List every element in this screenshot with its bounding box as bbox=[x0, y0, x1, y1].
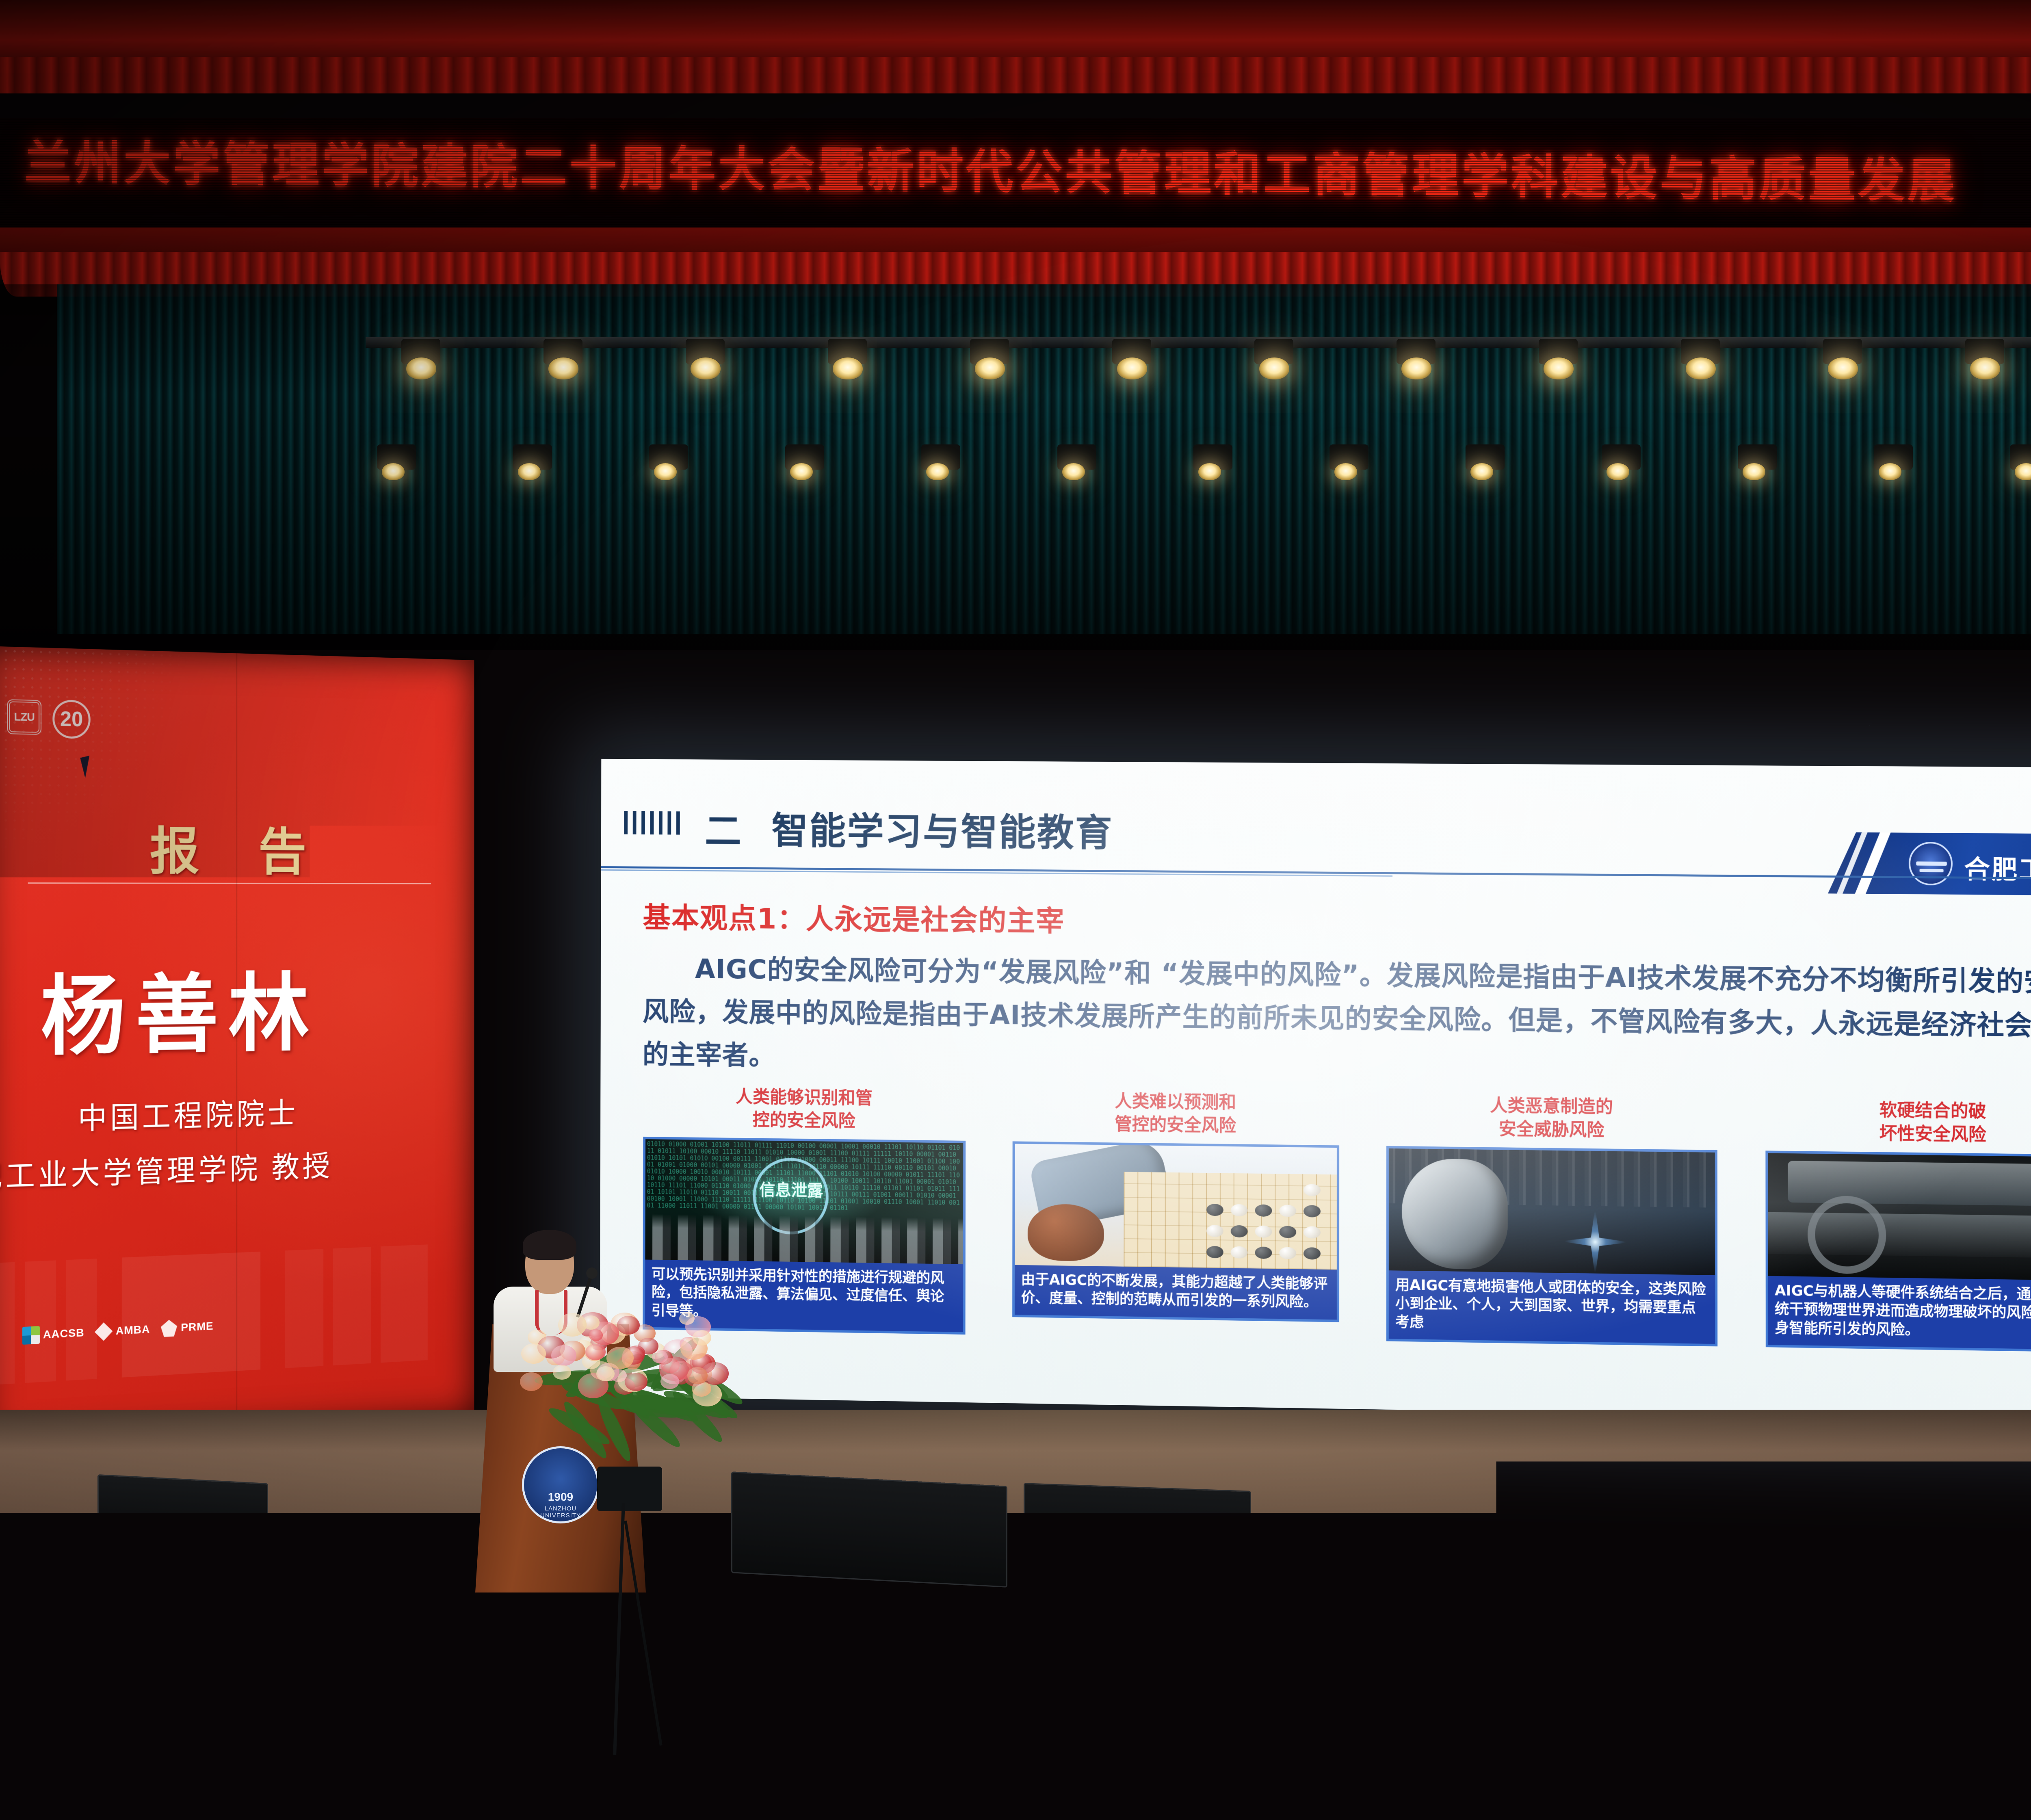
stage-light bbox=[654, 463, 677, 480]
amba-mark-icon bbox=[95, 1322, 113, 1341]
bouquet-flower bbox=[558, 1313, 587, 1337]
bouquet-flower bbox=[596, 1366, 615, 1381]
aacsb-label: AACSB bbox=[43, 1326, 84, 1341]
projection-screen: 二 智能学习与智能教育 合肥工业大学 基本观点1：人永远是社会的主宰 AIGC的… bbox=[600, 759, 2031, 1422]
risk-card: 软硬结合的破 坏性安全风险AIGC与机器人等硬件系统结合之后，通过硬件系统干预物… bbox=[1765, 1097, 2031, 1352]
bouquet-flower bbox=[553, 1365, 571, 1380]
stage-light bbox=[1117, 357, 1147, 379]
go-stone bbox=[1303, 1247, 1321, 1260]
windshield bbox=[1788, 1161, 2031, 1206]
bouquet-flower bbox=[521, 1343, 546, 1364]
stage-light bbox=[1743, 463, 1765, 480]
banner-kicker-label: 报 告 bbox=[150, 810, 329, 884]
bouquet-flower bbox=[585, 1344, 605, 1360]
prme-mark-icon bbox=[160, 1319, 178, 1338]
stage-light bbox=[1879, 463, 1901, 480]
stage-light bbox=[518, 463, 541, 480]
risk-card-box: 由于AIGC的不断发展，其能力超越了人类能够评价、度量、控制的范畴从而引发的一系… bbox=[1012, 1141, 1339, 1322]
stage-light bbox=[975, 357, 1005, 379]
stage-light bbox=[1259, 357, 1289, 379]
data-leak-magnifier-image: 01010 01000 01001 10100 11011 01111 1101… bbox=[645, 1139, 963, 1264]
stage-light bbox=[1198, 463, 1221, 480]
image-overlay-text: 信息泄露 bbox=[759, 1176, 823, 1201]
prme-mark-icon bbox=[340, 1657, 359, 1676]
risk-card: 人类难以预测和 管控的安全风险由于AIGC的不断发展，其能力超越了人类能够评价、… bbox=[1012, 1089, 1339, 1340]
robot-hand-go-board-image bbox=[1015, 1144, 1337, 1270]
red-valance-upper bbox=[0, 57, 2031, 93]
go-stone bbox=[1206, 1246, 1223, 1258]
banner-divider bbox=[28, 882, 431, 884]
go-stone bbox=[1303, 1226, 1321, 1239]
speaker-affiliation-line-2: 肥工业大学管理学院 教授 bbox=[0, 1142, 333, 1197]
go-stone bbox=[1279, 1247, 1296, 1259]
go-stone bbox=[1206, 1203, 1223, 1216]
stage-light bbox=[1544, 357, 1574, 379]
go-stone bbox=[1255, 1225, 1272, 1238]
speaker-name: 杨善林 bbox=[41, 945, 319, 1072]
prme-logo: PRME bbox=[160, 1317, 213, 1338]
aacsb-mark-icon bbox=[22, 1326, 40, 1345]
bouquet-flower bbox=[687, 1367, 708, 1384]
anniversary-seal-icon: 20 bbox=[52, 700, 90, 739]
stage-light bbox=[1970, 357, 2000, 379]
server-silhouettes bbox=[645, 1213, 963, 1264]
organization-logo-tab: 合肥工业大学 bbox=[1828, 832, 2031, 896]
presentation-slide: 二 智能学习与智能教育 合肥工业大学 基本观点1：人永远是社会的主宰 AIGC的… bbox=[600, 759, 2031, 1422]
stage-light bbox=[1828, 357, 1858, 379]
prme-label: PRME bbox=[181, 1319, 213, 1334]
stage-light bbox=[1686, 357, 1716, 379]
led-marquee-banner: 兰州大学管理学院建院二十周年大会暨新时代公共管理和工商管理学科建设与高质量发展 bbox=[0, 118, 2031, 240]
front-banner-logos-left: AACSB AMBA PRME bbox=[211, 1657, 393, 1676]
stage-light bbox=[1401, 357, 1431, 379]
hefei-university-seal-icon bbox=[1909, 842, 1953, 886]
header-bars-decoration-icon bbox=[624, 811, 680, 834]
speaker-hair bbox=[523, 1230, 576, 1260]
flower-arrangement bbox=[508, 1290, 735, 1412]
car-crash-interior-image bbox=[1768, 1153, 2031, 1280]
risk-card-caption: 人类能够识别和管 控的安全风险 bbox=[643, 1085, 966, 1134]
stage-light bbox=[1470, 463, 1493, 480]
bouquet-flower bbox=[660, 1374, 679, 1389]
risk-cards-row: 人类能够识别和管 控的安全风险01010 01000 01001 10100 1… bbox=[643, 1085, 2031, 1352]
front-banner-line-2: 暨新时代公共管理和工商管理学科建设与高质量发展论坛 bbox=[0, 1732, 2031, 1798]
organization-logo-name: 合肥工业大学 bbox=[1964, 849, 2031, 887]
video-camera bbox=[597, 1467, 662, 1511]
risk-card-caption: 软硬结合的破 坏性安全风险 bbox=[1765, 1097, 2031, 1148]
android-face bbox=[1402, 1158, 1508, 1270]
go-stone bbox=[1303, 1184, 1321, 1196]
bouquet-flower bbox=[625, 1373, 647, 1391]
stage-light bbox=[406, 357, 436, 379]
risk-card-box: 用AIGC有意地损害他人或团体的安全，这类风险小到企业、个人，大到国家、世界，均… bbox=[1386, 1146, 1717, 1346]
risk-card-text: 用AIGC有意地损害他人或团体的安全，这类风险小到企业、个人，大到国家、世界，均… bbox=[1389, 1270, 1715, 1344]
bouquet-flower bbox=[606, 1347, 633, 1369]
front-banner-line-1: 兰州大学管理学院建院二十周年大会 bbox=[0, 1672, 2031, 1735]
aacsb-label: AACSB bbox=[238, 1662, 269, 1671]
stage-light bbox=[2015, 463, 2031, 480]
risk-card-caption: 人类难以预测和 管控的安全风险 bbox=[1012, 1089, 1339, 1139]
prme-label: PRME bbox=[368, 1662, 393, 1671]
aacsb-logo: AACSB bbox=[22, 1324, 84, 1345]
risk-card-text: 由于AIGC的不断发展，其能力超越了人类能够评价、度量、控制的范畴从而引发的一系… bbox=[1015, 1265, 1337, 1319]
go-stone bbox=[1279, 1205, 1296, 1217]
stage-monitor-left bbox=[731, 1471, 1007, 1588]
amba-mark-icon bbox=[278, 1657, 297, 1676]
robot-face-explosion-image bbox=[1389, 1148, 1715, 1275]
stage-light bbox=[691, 357, 721, 379]
go-stone bbox=[1255, 1204, 1272, 1217]
slide-red-heading: 基本观点1：人永远是社会的主宰 bbox=[643, 895, 1065, 940]
auditorium-hall: 兰州大学管理学院建院二十周年大会暨新时代公共管理和工商管理学科建设与高质量发展 … bbox=[0, 0, 2031, 1820]
go-stone bbox=[1230, 1225, 1247, 1237]
stage-light bbox=[833, 357, 863, 379]
stage-light bbox=[790, 463, 813, 480]
amba-label: AMBA bbox=[305, 1662, 331, 1671]
energy-burst bbox=[1560, 1207, 1630, 1275]
stage-light bbox=[926, 463, 949, 480]
stage-light bbox=[548, 357, 578, 379]
stage-light bbox=[1607, 463, 1629, 480]
stage-monitor-right bbox=[1982, 1458, 2031, 1573]
bouquet-flower bbox=[520, 1372, 543, 1391]
bouquet-flower bbox=[693, 1330, 711, 1345]
go-stone bbox=[1279, 1226, 1296, 1238]
emblem-name: LANZHOU UNIVERSITY bbox=[524, 1505, 597, 1519]
risk-card: 人类恶意制造的 安全威胁风险用AIGC有意地损害他人或团体的安全，这类风险小到企… bbox=[1386, 1093, 1717, 1347]
go-stone bbox=[1255, 1246, 1272, 1259]
stage-light bbox=[382, 463, 405, 480]
lanzhou-university-emblem: 1909 LANZHOU UNIVERSITY bbox=[522, 1446, 599, 1523]
led-marquee-text: 兰州大学管理学院建院二十周年大会暨新时代公共管理和工商管理学科建设与高质量发展 bbox=[24, 124, 2031, 219]
stage-light bbox=[1062, 463, 1085, 480]
risk-card-caption: 人类恶意制造的 安全威胁风险 bbox=[1386, 1093, 1717, 1144]
slide-header: 二 智能学习与智能教育 合肥工业大学 bbox=[601, 782, 2031, 878]
stage-speaker-box-left bbox=[97, 1474, 268, 1544]
bouquet-flower bbox=[551, 1345, 576, 1366]
aacsb-mark-icon bbox=[211, 1657, 229, 1675]
amba-label: AMBA bbox=[116, 1323, 150, 1337]
stage-front-banner: 兰州大学管理学院建院二十周年大会 暨新时代公共管理和工商管理学科建设与高质量发展… bbox=[0, 1623, 2031, 1820]
go-stone bbox=[1206, 1224, 1223, 1237]
go-stone bbox=[1303, 1205, 1321, 1218]
slide-body-paragraph: AIGC的安全风险可分为“发展风险”和 “发展中的风险”。发展风险是指由于AI技… bbox=[643, 947, 2031, 1092]
bouquet-flower bbox=[589, 1329, 603, 1341]
go-stone bbox=[1230, 1246, 1247, 1259]
lighting-truss bbox=[366, 337, 2031, 348]
lanzhou-university-seal-icon: LZU bbox=[7, 699, 41, 734]
emblem-year: 1909 bbox=[524, 1491, 597, 1504]
section-title: 智能学习与智能教育 bbox=[771, 801, 1113, 857]
stage-light bbox=[1334, 463, 1357, 480]
stage-floor-sheen bbox=[0, 1410, 2031, 1637]
risk-card-box: AIGC与机器人等硬件系统结合之后，通过硬件系统干预物理世界进而造成物理破坏的风… bbox=[1765, 1150, 2031, 1352]
speaker-affiliation-line-1: 中国工程院院士 bbox=[78, 1090, 299, 1138]
amba-logo: AMBA bbox=[95, 1320, 150, 1341]
section-number: 二 bbox=[705, 801, 742, 855]
risk-card-text: AIGC与机器人等硬件系统结合之后，通过硬件系统干预物理世界进而造成物理破坏的风… bbox=[1768, 1276, 2031, 1350]
left-speaker-banner: LZU 20 报 告 杨善林 中国工程院院士 肥工业大学管理学院 教授 AACS… bbox=[0, 646, 474, 1446]
go-stone bbox=[1230, 1204, 1247, 1216]
steering-wheel bbox=[1808, 1195, 1886, 1274]
campus-skyline-graphic bbox=[0, 1242, 474, 1385]
stage-monitor-center bbox=[1024, 1483, 1251, 1572]
stone-bowl bbox=[1027, 1204, 1104, 1261]
bouquet-flower bbox=[617, 1316, 640, 1335]
